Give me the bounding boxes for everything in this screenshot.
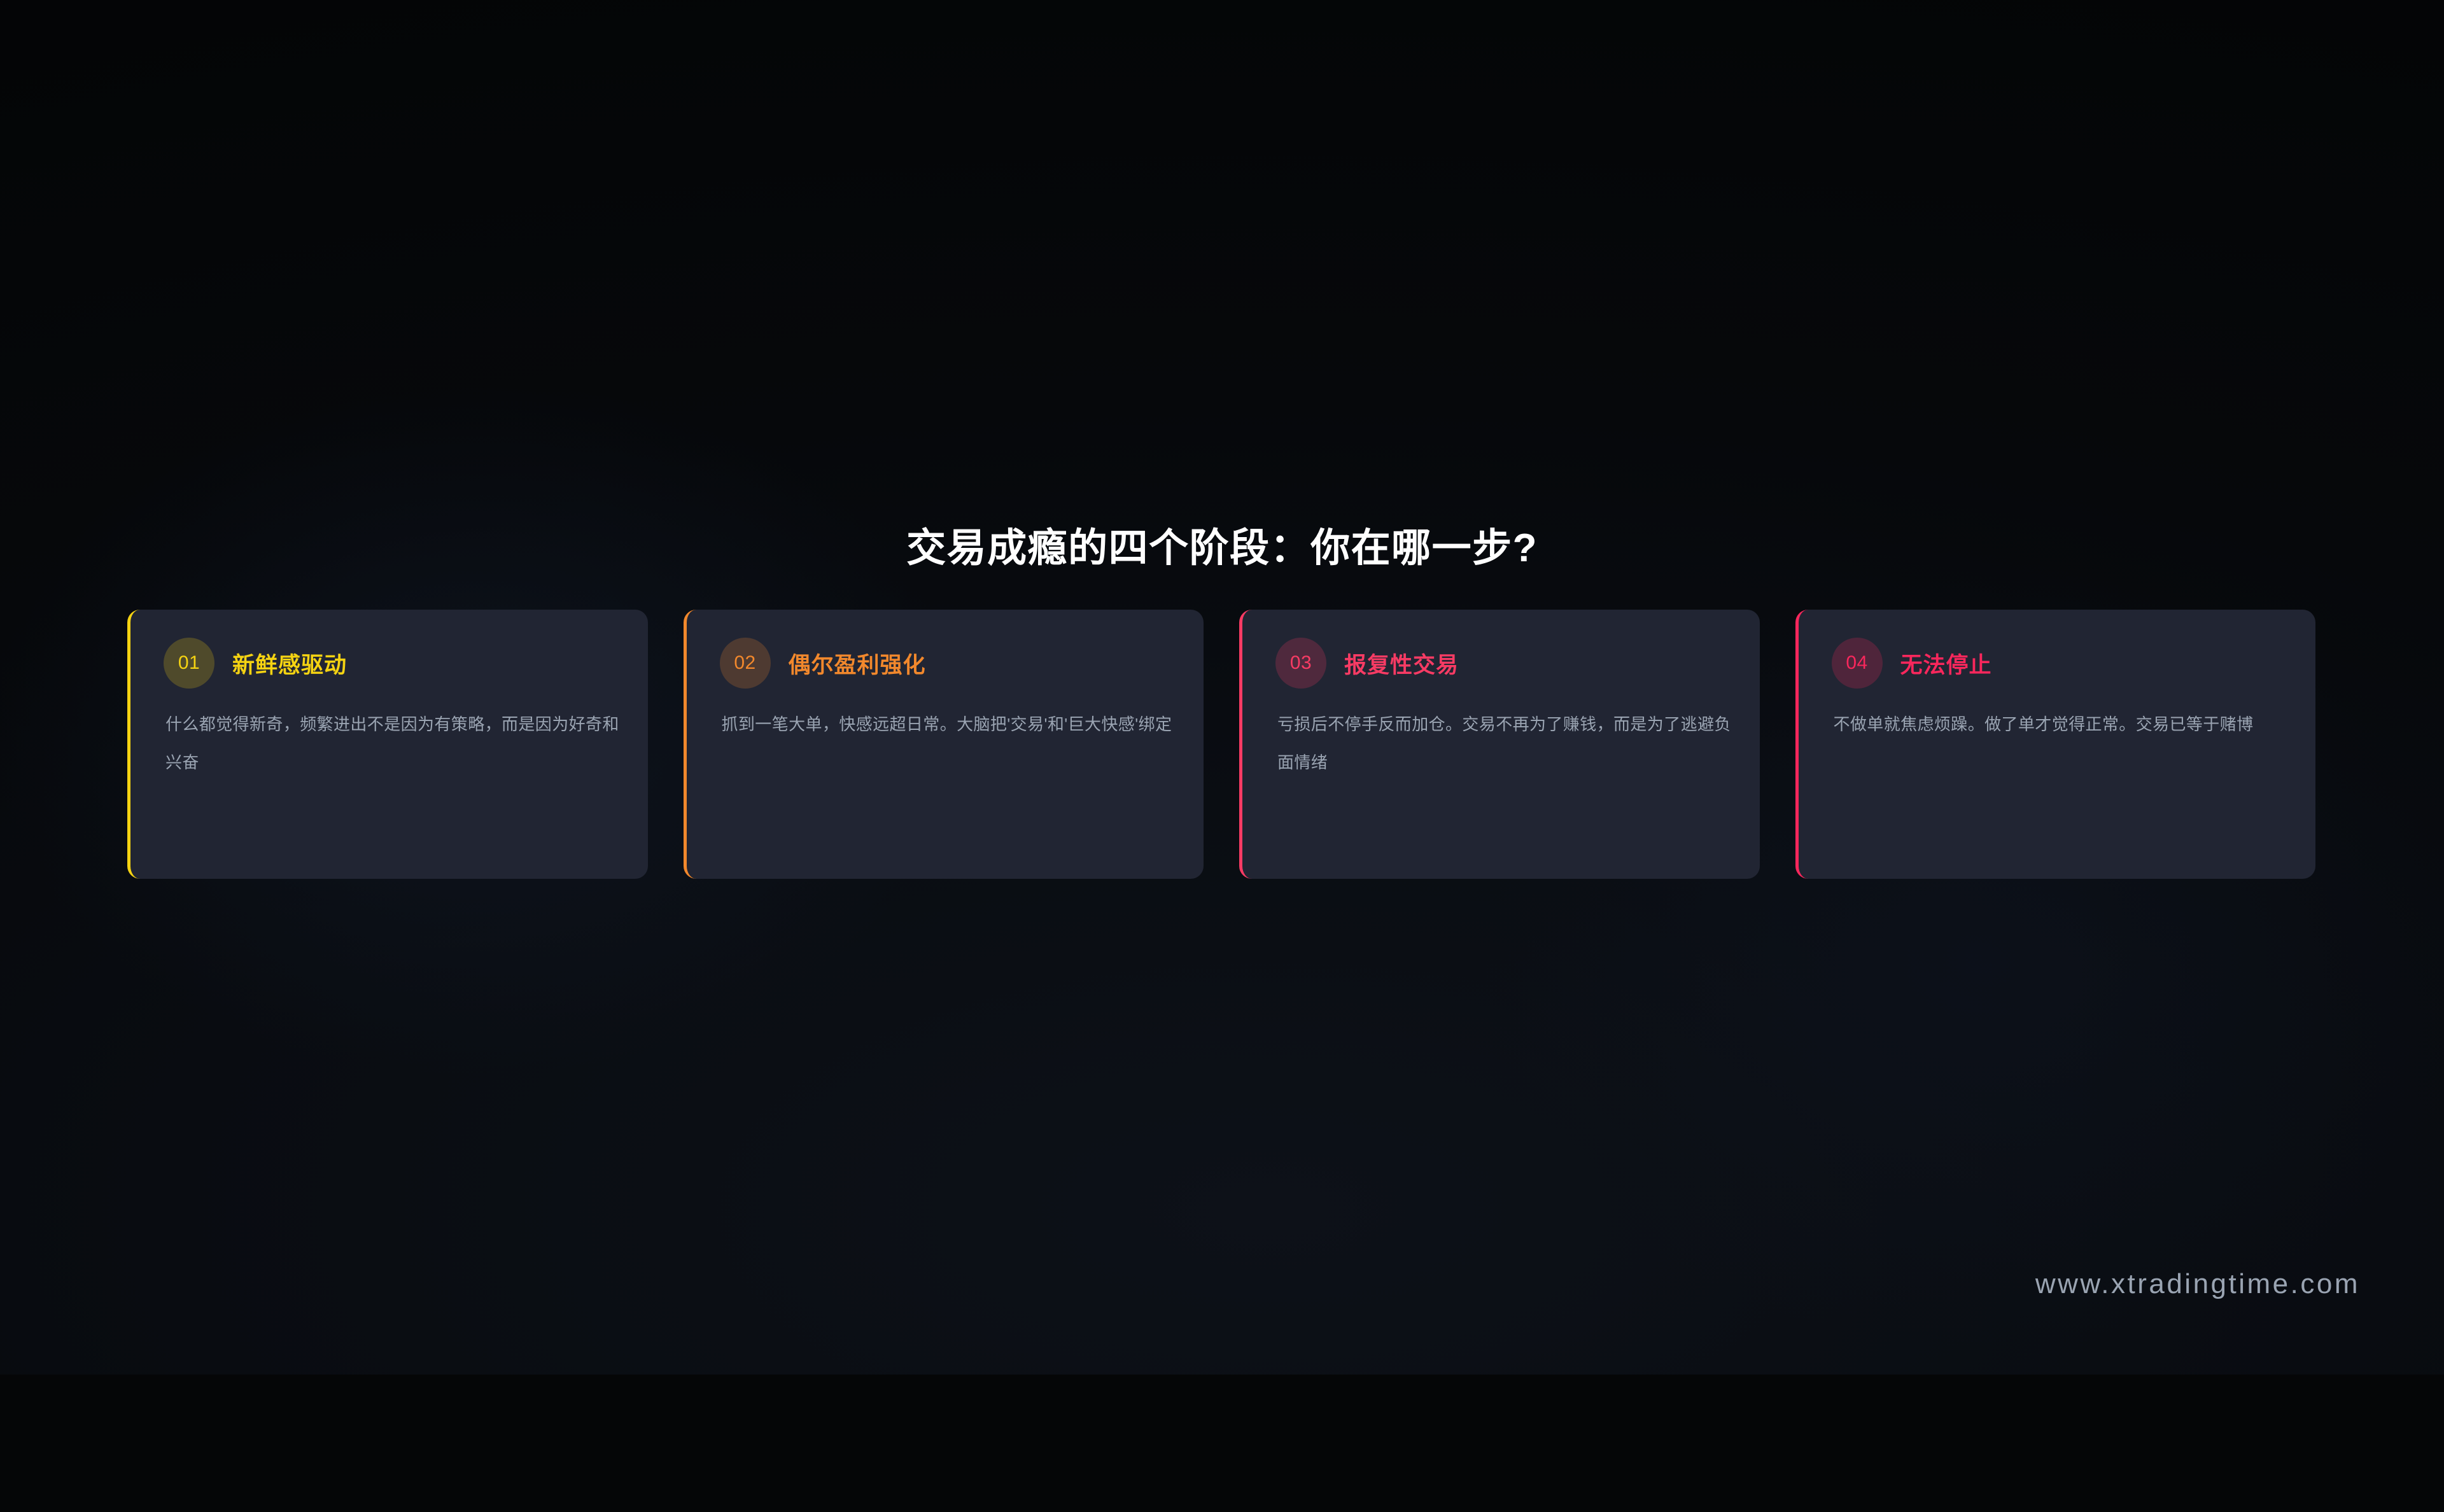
stage-card-01[interactable]: 01 新鲜感驱动 什么都觉得新奇，频繁进出不是因为有策略，而是因为好奇和兴奋 xyxy=(127,610,648,879)
stage-number-badge: 04 xyxy=(1832,638,1883,689)
stage-card-04[interactable]: 04 无法停止 不做单就焦虑烦躁。做了单才觉得正常。交易已等于赌博 xyxy=(1795,610,2316,879)
stage-card-title: 偶尔盈利强化 xyxy=(789,647,926,680)
slide-background: 交易成瘾的四个阶段：你在哪一步? 01 新鲜感驱动 什么都觉得新奇，频繁进出不是… xyxy=(0,0,2444,1375)
site-watermark: www.xtradingtime.com xyxy=(2035,1268,2360,1300)
stage-card-list: 01 新鲜感驱动 什么都觉得新奇，频繁进出不是因为有策略，而是因为好奇和兴奋 0… xyxy=(127,610,2315,879)
stage-number-badge: 02 xyxy=(720,638,771,689)
stage-card-03[interactable]: 03 报复性交易 亏损后不停手反而加仓。交易不再为了赚钱，而是为了逃避负面情绪 xyxy=(1239,610,1760,879)
stage-card-title: 无法停止 xyxy=(1900,647,1992,680)
stage-card-title: 新鲜感驱动 xyxy=(232,647,347,680)
stage-card-description: 抓到一笔大单，快感远超日常。大脑把'交易'和'巨大快感'绑定 xyxy=(720,705,1180,743)
stage-card-title: 报复性交易 xyxy=(1344,647,1459,680)
stage-card-header: 02 偶尔盈利强化 xyxy=(720,638,1180,689)
stage-number-badge: 03 xyxy=(1275,638,1326,689)
stage-card-02[interactable]: 02 偶尔盈利强化 抓到一笔大单，快感远超日常。大脑把'交易'和'巨大快感'绑定 xyxy=(684,610,1204,879)
background-glow-right xyxy=(1271,412,2444,1512)
stage-card-description: 亏损后不停手反而加仓。交易不再为了赚钱，而是为了逃避负面情绪 xyxy=(1275,705,1736,781)
stage-card-header: 04 无法停止 xyxy=(1832,638,2292,689)
stage-card-header: 01 新鲜感驱动 xyxy=(164,638,624,689)
stage-card-description: 不做单就焦虑烦躁。做了单才觉得正常。交易已等于赌博 xyxy=(1832,705,2292,743)
stage-card-description: 什么都觉得新奇，频繁进出不是因为有策略，而是因为好奇和兴奋 xyxy=(164,705,624,781)
stage-card-header: 03 报复性交易 xyxy=(1275,638,1736,689)
page-title: 交易成瘾的四个阶段：你在哪一步? xyxy=(0,527,2444,570)
stage-number-badge: 01 xyxy=(164,638,214,689)
